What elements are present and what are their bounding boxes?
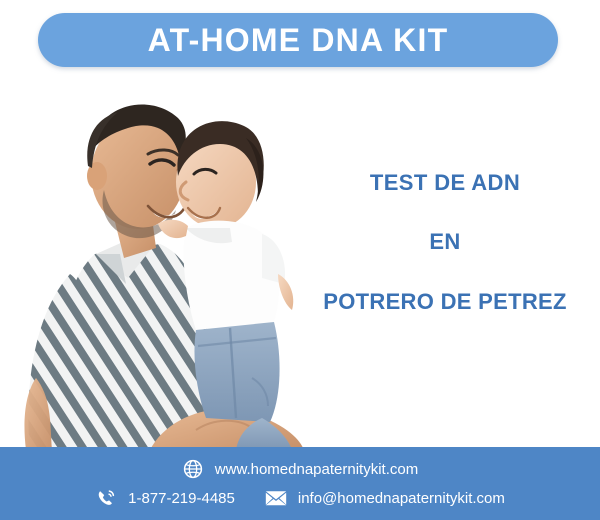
poster-canvas: AT-HOME DNA KIT <box>0 0 600 520</box>
headline-line-1: TEST DE ADN <box>370 172 520 194</box>
page-title: AT-HOME DNA KIT <box>148 24 449 56</box>
phone-icon <box>95 487 117 509</box>
footer-website-row: www.homednapaternitykit.com <box>182 458 418 480</box>
email-label: info@homednapaternitykit.com <box>298 491 505 506</box>
father-and-child-photo <box>0 78 310 450</box>
footer-contact-bar: www.homednapaternitykit.com 1-877-219-44… <box>0 447 600 520</box>
father-and-child-illustration <box>0 78 310 450</box>
globe-icon <box>182 458 204 480</box>
phone-label: 1-877-219-4485 <box>128 491 235 506</box>
envelope-icon <box>265 487 287 509</box>
contact-website[interactable]: www.homednapaternitykit.com <box>182 458 418 480</box>
website-label: www.homednapaternitykit.com <box>215 462 418 477</box>
headline-block: TEST DE ADN EN POTRERO DE PETREZ <box>300 150 590 330</box>
headline-line-3: POTRERO DE PETREZ <box>323 291 566 313</box>
footer-phone-email-row: 1-877-219-4485 info@homednapaternitykit.… <box>95 487 505 509</box>
headline-line-2: EN <box>429 231 460 253</box>
contact-email[interactable]: info@homednapaternitykit.com <box>265 487 505 509</box>
contact-phone[interactable]: 1-877-219-4485 <box>95 487 235 509</box>
header-banner: AT-HOME DNA KIT <box>38 13 558 67</box>
